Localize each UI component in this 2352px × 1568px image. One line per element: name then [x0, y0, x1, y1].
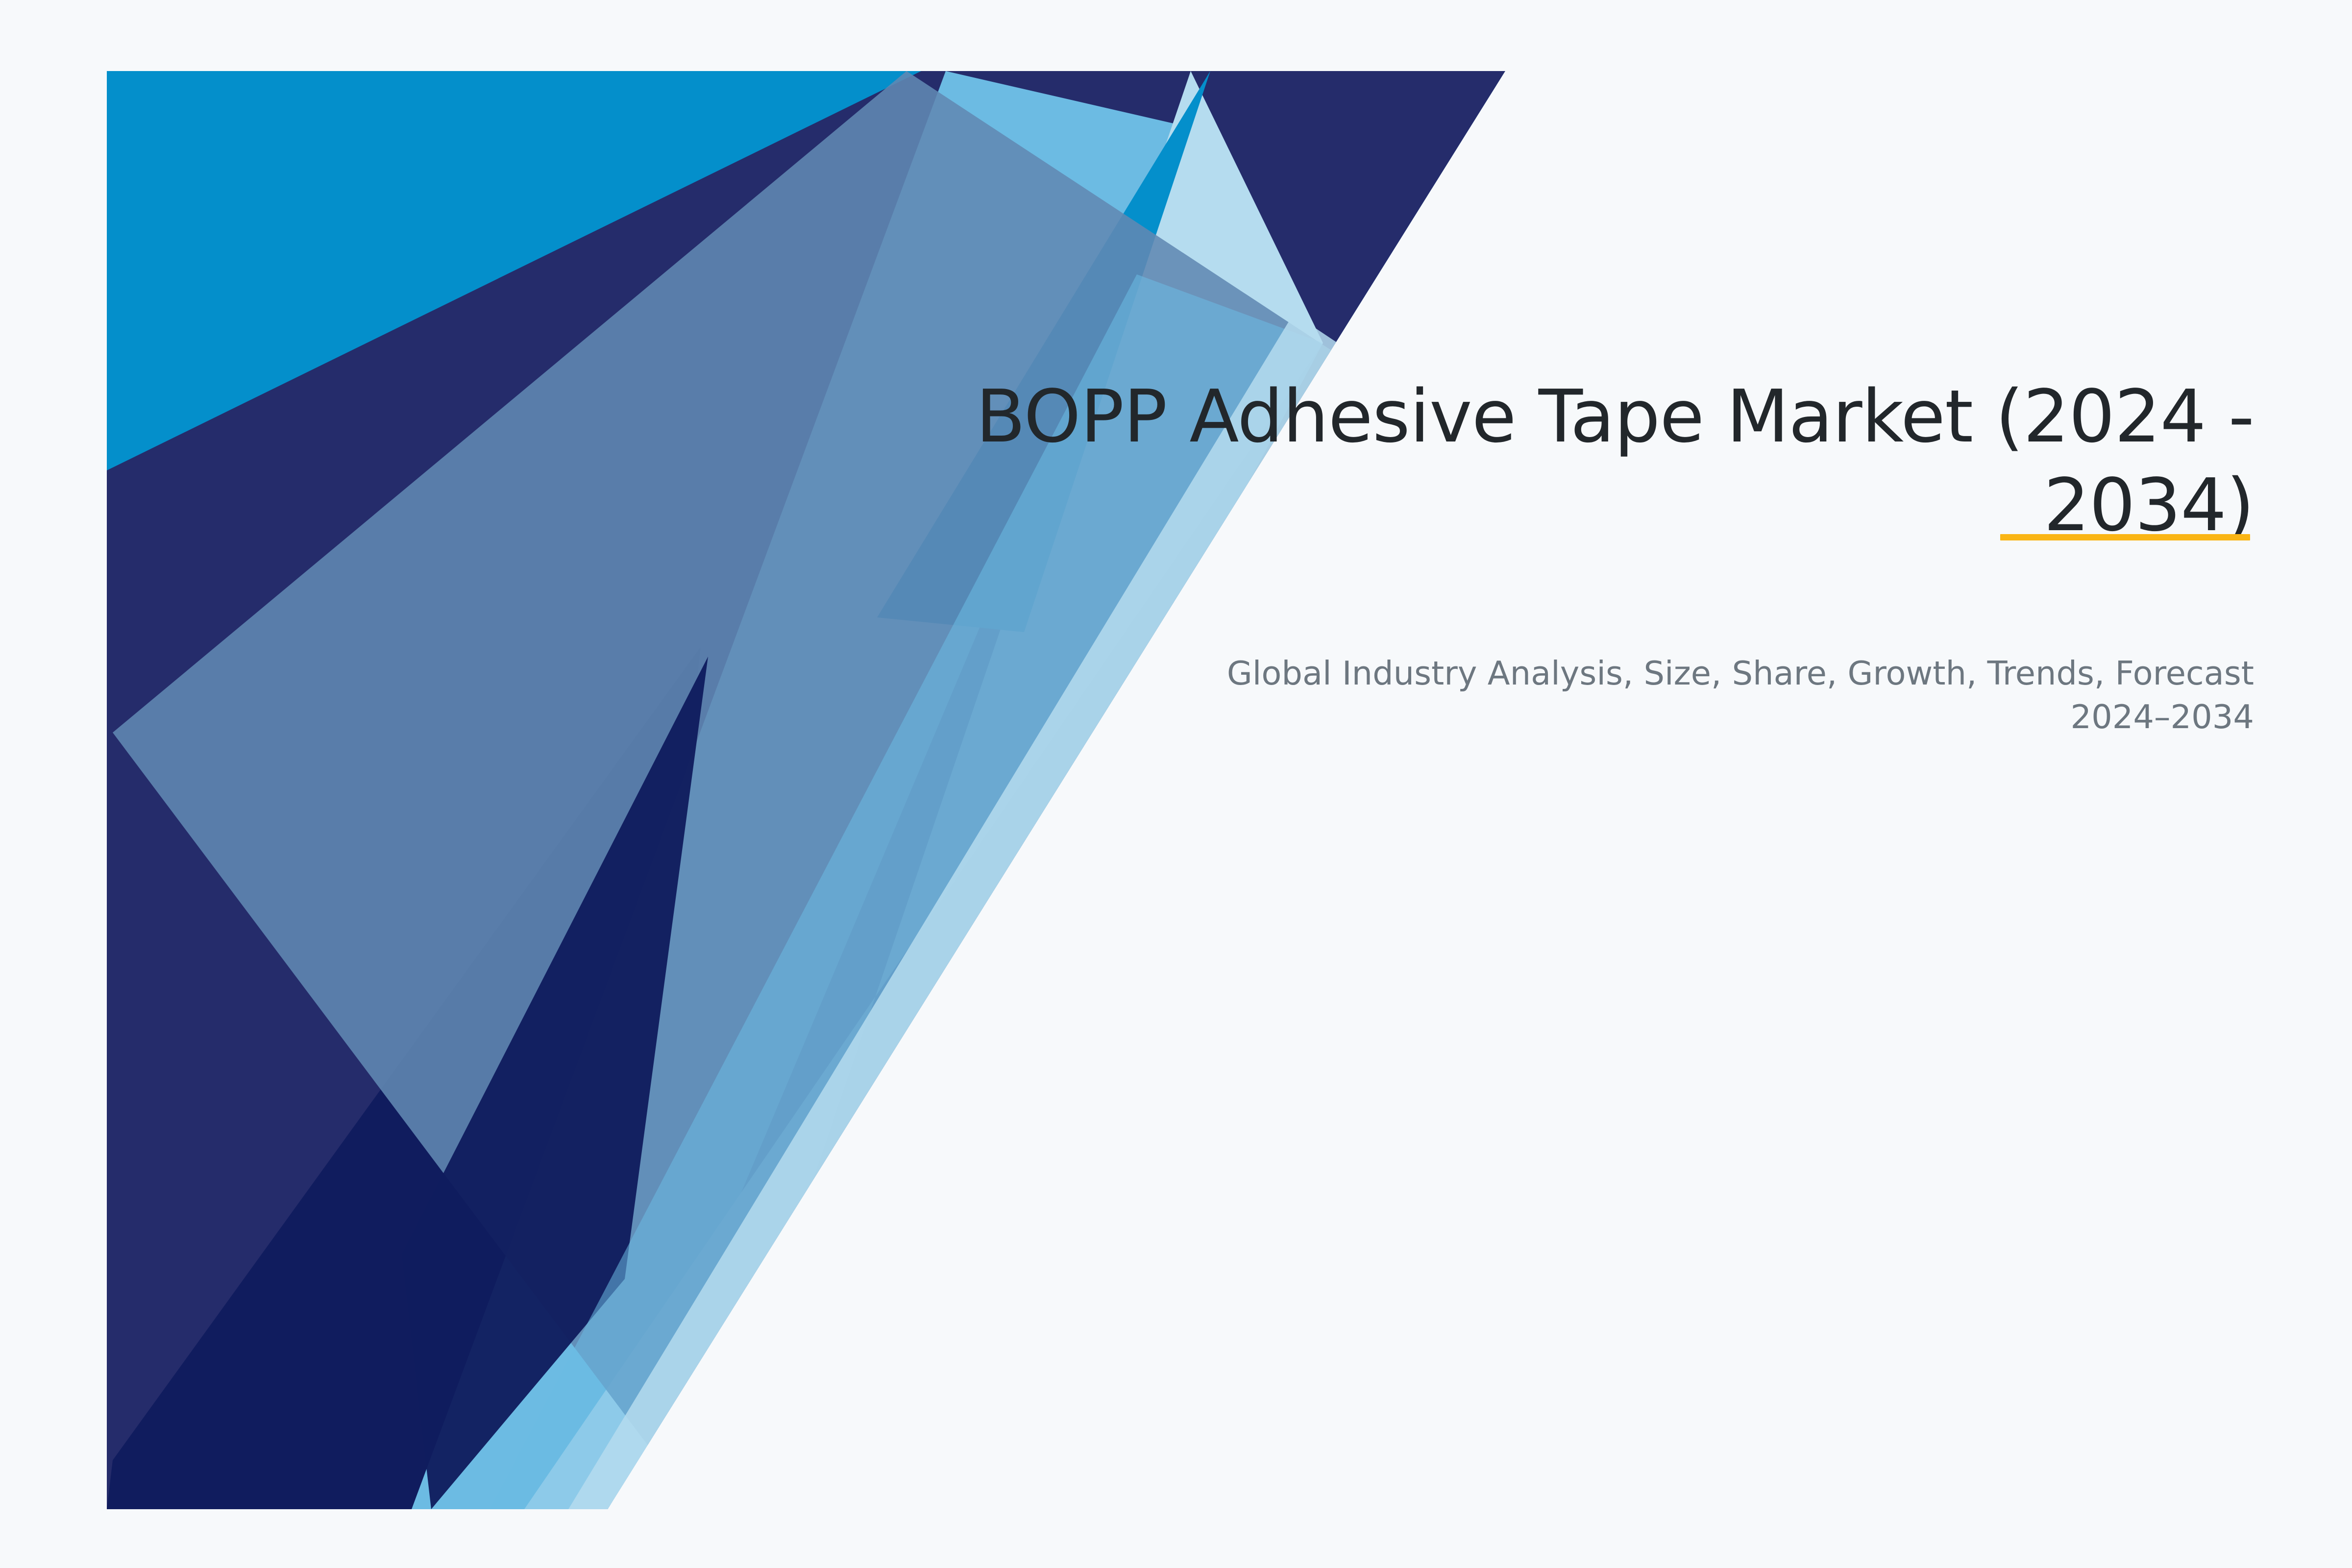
- page-title: BOPP Adhesive Tape Market (2024 - 2034): [833, 372, 2254, 549]
- cover-artwork: [0, 0, 2352, 1568]
- subtitle-block: Global Industry Analysis, Size, Share, G…: [1176, 652, 2254, 739]
- page-subtitle: Global Industry Analysis, Size, Share, G…: [1176, 652, 2254, 739]
- title-block: BOPP Adhesive Tape Market (2024 - 2034): [833, 372, 2254, 549]
- title-wrap: BOPP Adhesive Tape Market (2024 - 2034): [833, 372, 2254, 549]
- slide-canvas: BOPP Adhesive Tape Market (2024 - 2034) …: [0, 0, 2352, 1568]
